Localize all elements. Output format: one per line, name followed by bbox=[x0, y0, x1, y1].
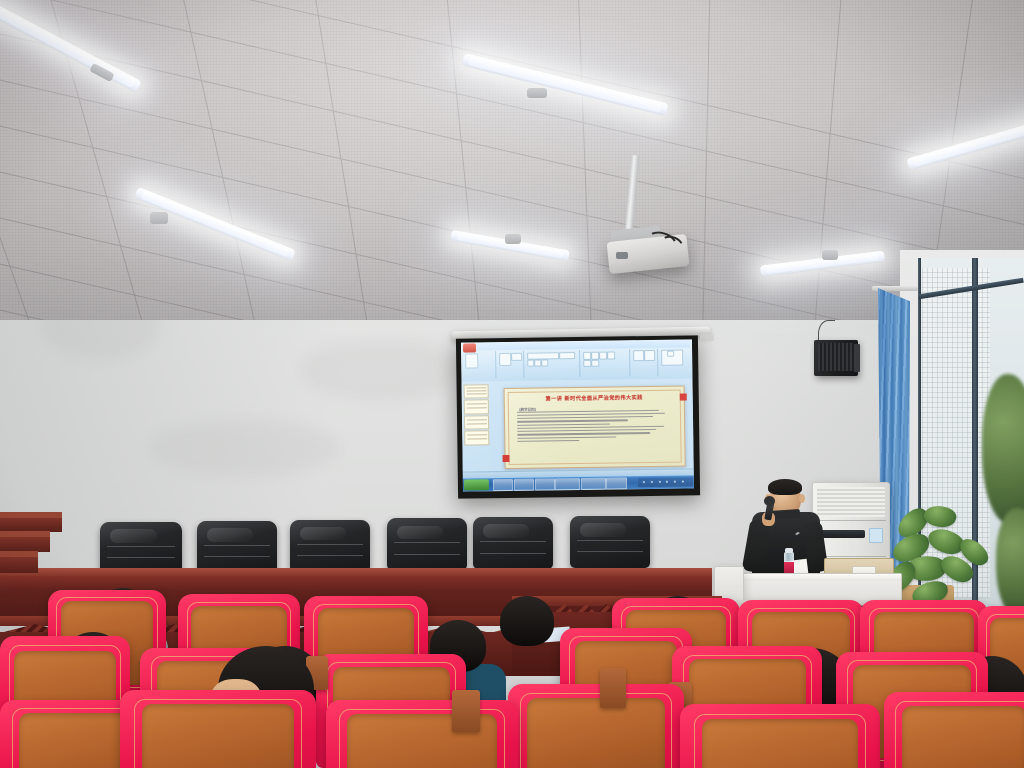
chair-seam bbox=[577, 551, 643, 552]
ac-label-sticker bbox=[869, 528, 883, 543]
taskbar-item[interactable] bbox=[555, 478, 580, 490]
hair bbox=[500, 596, 554, 646]
chair-seam bbox=[297, 544, 363, 545]
tube-housing bbox=[505, 234, 521, 244]
ac-seam bbox=[816, 520, 886, 521]
slide-body-line bbox=[518, 432, 650, 435]
ribbon-align-icon[interactable] bbox=[591, 352, 599, 360]
tube-housing bbox=[527, 88, 547, 98]
chair-highlight bbox=[110, 529, 158, 543]
slide-body-line bbox=[518, 423, 610, 425]
chair-seam bbox=[394, 554, 460, 555]
slide-body-text bbox=[517, 409, 671, 444]
seat-cushion bbox=[527, 698, 664, 768]
auditorium-seat bbox=[884, 692, 1024, 768]
windows-taskbar[interactable] bbox=[463, 474, 694, 492]
ac-air-vent bbox=[817, 487, 885, 518]
current-slide[interactable]: 第一讲 新时代全面从严治党的伟大实践 【教学目的】 bbox=[504, 385, 686, 469]
stage-stair-riser bbox=[0, 537, 50, 552]
lecture-hall-photo: 第一讲 新时代全面从严治党的伟大实践 【教学目的】 bbox=[0, 0, 1024, 768]
office-button-icon[interactable] bbox=[463, 343, 476, 352]
chair-seam bbox=[107, 546, 174, 547]
seat-cushion bbox=[142, 704, 295, 768]
seat-armrest bbox=[452, 690, 480, 732]
audience-head bbox=[500, 596, 554, 646]
ribbon-bullets-icon[interactable] bbox=[583, 360, 591, 367]
chair-highlight bbox=[207, 528, 253, 542]
slide-thumbnail-panel[interactable] bbox=[461, 381, 491, 478]
chair-highlight bbox=[483, 524, 529, 538]
slide-body-line bbox=[517, 416, 652, 419]
powerpoint-window: 第一讲 新时代全面从严治党的伟大实践 【教学目的】 bbox=[461, 339, 694, 491]
slide-thumbnail[interactable] bbox=[464, 384, 489, 399]
auditorium-seat bbox=[508, 684, 684, 768]
ribbon-align-icon[interactable] bbox=[607, 351, 615, 359]
ribbon-group-divider bbox=[657, 349, 658, 376]
speaker-bracket bbox=[854, 344, 860, 372]
ribbon-shapes-icon[interactable] bbox=[633, 350, 644, 361]
ceiling bbox=[0, 0, 1024, 320]
chair-highlight bbox=[580, 523, 626, 537]
auditorium-seat bbox=[680, 704, 880, 768]
bottle-cap bbox=[785, 548, 793, 553]
presenter-hair bbox=[768, 479, 802, 495]
stage-stair-riser bbox=[0, 518, 62, 532]
chair-seam bbox=[107, 557, 174, 558]
microphone-head bbox=[764, 496, 775, 506]
presenter-ear bbox=[799, 494, 805, 503]
podium-top-surface bbox=[727, 574, 901, 581]
ceiling-shading bbox=[0, 0, 1024, 320]
slide-accent-square-top-right bbox=[680, 394, 687, 401]
chair-highlight bbox=[300, 527, 346, 541]
powerpoint-ribbon[interactable] bbox=[461, 339, 693, 382]
executive-chair bbox=[290, 520, 370, 572]
executive-chair bbox=[197, 521, 277, 573]
ribbon-align-icon[interactable] bbox=[583, 352, 591, 360]
executive-chair bbox=[387, 518, 467, 570]
projected-image: 第一讲 新时代全面从严治党的伟大实践 【教学目的】 bbox=[461, 339, 694, 491]
ribbon-underline-icon[interactable] bbox=[541, 359, 548, 366]
wall-mounted-speaker bbox=[814, 340, 858, 376]
chair-seam bbox=[480, 541, 546, 542]
tube-housing bbox=[822, 250, 838, 260]
tube-housing bbox=[150, 212, 168, 224]
chair-seam bbox=[577, 540, 643, 541]
slide-body-line bbox=[518, 420, 629, 423]
auditorium-seat bbox=[326, 700, 518, 768]
ribbon-group-divider bbox=[579, 350, 580, 377]
executive-chair bbox=[100, 522, 182, 574]
executive-chair bbox=[570, 516, 650, 568]
taskbar-item[interactable] bbox=[606, 478, 627, 490]
stage-stair-riser bbox=[0, 557, 38, 573]
ribbon-align-icon[interactable] bbox=[599, 352, 607, 360]
taskbar-item[interactable] bbox=[514, 479, 535, 491]
chair-seam bbox=[480, 553, 546, 554]
slide-thumbnail[interactable] bbox=[464, 415, 489, 430]
slide-thumbnail[interactable] bbox=[464, 399, 489, 414]
taskbar-item[interactable] bbox=[493, 479, 514, 491]
screen-roller-cap bbox=[700, 334, 714, 341]
seat-cushion bbox=[902, 706, 1024, 768]
taskbar-item[interactable] bbox=[581, 478, 606, 490]
ribbon-newslide-icon[interactable] bbox=[499, 353, 511, 366]
speaker-grill bbox=[818, 343, 854, 371]
start-button[interactable] bbox=[464, 479, 490, 490]
ribbon-layout-icon[interactable] bbox=[511, 353, 522, 361]
ribbon-find-icon[interactable] bbox=[667, 351, 674, 357]
seat-cushion bbox=[702, 719, 858, 768]
executive-chair bbox=[473, 517, 553, 569]
ribbon-group-divider bbox=[495, 351, 496, 378]
chair-seam bbox=[297, 555, 363, 556]
ribbon-paste-icon[interactable] bbox=[465, 353, 478, 368]
slide-body-line bbox=[518, 440, 580, 442]
system-tray[interactable] bbox=[637, 477, 693, 487]
slide-accent-square-bottom-left bbox=[502, 455, 509, 462]
slide-editing-area[interactable]: 第一讲 新时代全面从严治党的伟大实践 【教学目的】 bbox=[489, 378, 694, 478]
chair-seam bbox=[204, 556, 270, 557]
auditorium-seat bbox=[120, 690, 316, 768]
ribbon-numbering-icon[interactable] bbox=[591, 360, 599, 367]
projector-lens bbox=[616, 252, 628, 259]
projection-screen: 第一讲 新时代全面从严治党的伟大实践 【教学目的】 bbox=[456, 335, 700, 498]
ribbon-group-divider bbox=[523, 351, 524, 378]
taskbar-item[interactable] bbox=[534, 479, 555, 491]
ribbon-arrange-icon[interactable] bbox=[644, 350, 655, 361]
slide-body-line bbox=[518, 436, 617, 439]
wall-smudge bbox=[150, 420, 340, 476]
ribbon-group-divider bbox=[629, 349, 630, 376]
ribbon-fontsize-box[interactable] bbox=[559, 352, 575, 359]
seat-armrest bbox=[600, 668, 626, 708]
chair-seam bbox=[204, 545, 270, 546]
wall-smudge bbox=[300, 340, 460, 400]
ac-display-panel bbox=[821, 530, 865, 538]
chair-seam bbox=[394, 542, 460, 543]
slide-thumbnail[interactable] bbox=[464, 430, 489, 445]
chair-highlight bbox=[397, 526, 443, 540]
